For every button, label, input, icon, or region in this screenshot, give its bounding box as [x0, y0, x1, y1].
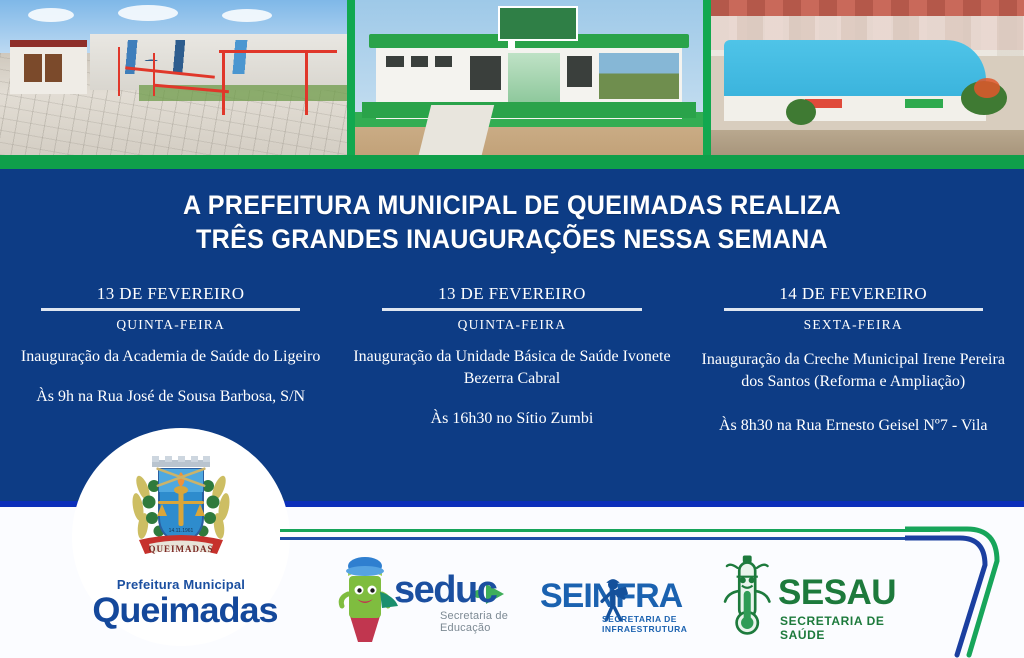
coat-of-arms-icon: 14.11.1961 QUEIMADAS — [121, 452, 241, 570]
city-name: Queimadas — [92, 592, 269, 630]
seduc-subtitle-line-2: Educação — [440, 622, 508, 634]
event-description: Inauguração da Academia de Saúde do Lige… — [0, 346, 341, 368]
window — [470, 56, 501, 90]
event-description: Inauguração da Unidade Básica de Saúde I… — [341, 346, 682, 390]
hedge — [362, 102, 696, 118]
event-date: 13 DE FEVEREIRO — [0, 283, 341, 305]
seinfra-subtitle: SECRETARIA DE INFRAESTRUTURA — [602, 614, 710, 634]
event-column-1: 13 DE FEVEREIRO QUINTA-FEIRA Inauguração… — [0, 283, 341, 437]
event-time-location: Às 16h30 no Sítio Zumbi — [341, 408, 682, 430]
prefeitura-label: Prefeitura Municipal — [95, 577, 267, 592]
gym-bar — [219, 50, 337, 54]
window — [386, 56, 403, 67]
photo-strip — [0, 0, 1024, 155]
mural-photo — [599, 53, 679, 100]
logo-seduc: seduc Secretaria de Educação — [336, 552, 522, 648]
door — [45, 54, 62, 82]
entrance — [508, 53, 560, 106]
event-divider — [382, 308, 641, 311]
door — [24, 54, 41, 82]
event-weekday: SEXTA-FEIRA — [683, 315, 1024, 335]
sesau-subtitle: SECRETARIA DE SAÚDE — [780, 614, 914, 642]
building-sign — [498, 6, 579, 41]
prefeitura-brand: 14.11.1961 QUEIMADAS Prefeitura Municipa… — [95, 452, 267, 642]
logo-sesau: SESAU SECRETARIA DE SAÚDE — [714, 552, 914, 648]
walkway — [418, 105, 493, 155]
street — [711, 130, 1024, 155]
headline-line-1: A PREFEITURA MUNICIPAL DE QUEIMADAS REAL… — [183, 190, 841, 220]
event-time-location: Às 9h na Rua José de Sousa Barbosa, S/N — [0, 386, 341, 408]
gym-post — [222, 50, 225, 115]
crest-motto-text: QUEIMADAS — [148, 544, 213, 554]
window — [567, 56, 591, 87]
thermometer-mascot-icon — [718, 552, 780, 644]
cloud-icon — [28, 8, 74, 22]
event-date: 13 DE FEVEREIRO — [341, 283, 682, 305]
event-divider — [41, 308, 300, 311]
swoosh-decoration — [905, 505, 1024, 658]
gym-post — [153, 53, 156, 96]
event-date: 14 DE FEVEREIRO — [683, 283, 1024, 305]
event-divider — [724, 308, 983, 311]
event-column-3: 14 DE FEVEREIRO SEXTA-FEIRA Inauguração … — [683, 283, 1024, 437]
green-divider — [0, 155, 1024, 169]
decorative-line-green — [280, 529, 940, 532]
event-weekday: QUINTA-FEIRA — [0, 315, 341, 335]
gym-post — [305, 50, 308, 115]
events-row: 13 DE FEVEREIRO QUINTA-FEIRA Inauguração… — [0, 283, 1024, 437]
event-column-2: 13 DE FEVEREIRO QUINTA-FEIRA Inauguração… — [341, 283, 682, 437]
headline-line-2: TRÊS GRANDES INAUGURAÇÕES NESSA SEMANA — [36, 222, 988, 256]
flowering-tree-icon — [974, 78, 1000, 98]
sesau-title: SESAU — [778, 574, 896, 612]
svg-text:14.11.1961: 14.11.1961 — [169, 528, 194, 534]
photo-unidade-basica-de-saude — [351, 0, 707, 155]
gym-post — [118, 47, 121, 97]
blue-roof — [724, 40, 987, 96]
decorative-line-blue — [280, 537, 940, 540]
event-weekday: QUINTA-FEIRA — [341, 315, 682, 335]
photo-academia-de-saude — [0, 0, 351, 155]
window — [411, 56, 428, 67]
event-description: Inauguração da Creche Municipal Irene Pe… — [683, 349, 1024, 393]
logo-seinfra: SEINFRA SECRETARIA DE INFRAESTRUTURA — [540, 572, 710, 638]
cloud-icon — [118, 5, 178, 21]
page-title: A PREFEITURA MUNICIPAL DE QUEIMADAS REAL… — [36, 188, 988, 256]
seduc-title: seduc — [394, 570, 496, 610]
poster-root: A PREFEITURA MUNICIPAL DE QUEIMADAS REAL… — [0, 0, 1024, 658]
photo-creche-municipal — [707, 0, 1024, 155]
event-time-location: Às 8h30 na Rua Ernesto Geisel Nº7 - Vila — [683, 415, 1024, 437]
window — [435, 56, 452, 67]
green-panel — [905, 99, 943, 108]
seduc-subtitle: Secretaria de Educação — [440, 610, 508, 634]
seduc-subtitle-line-1: Secretaria de — [440, 610, 508, 622]
